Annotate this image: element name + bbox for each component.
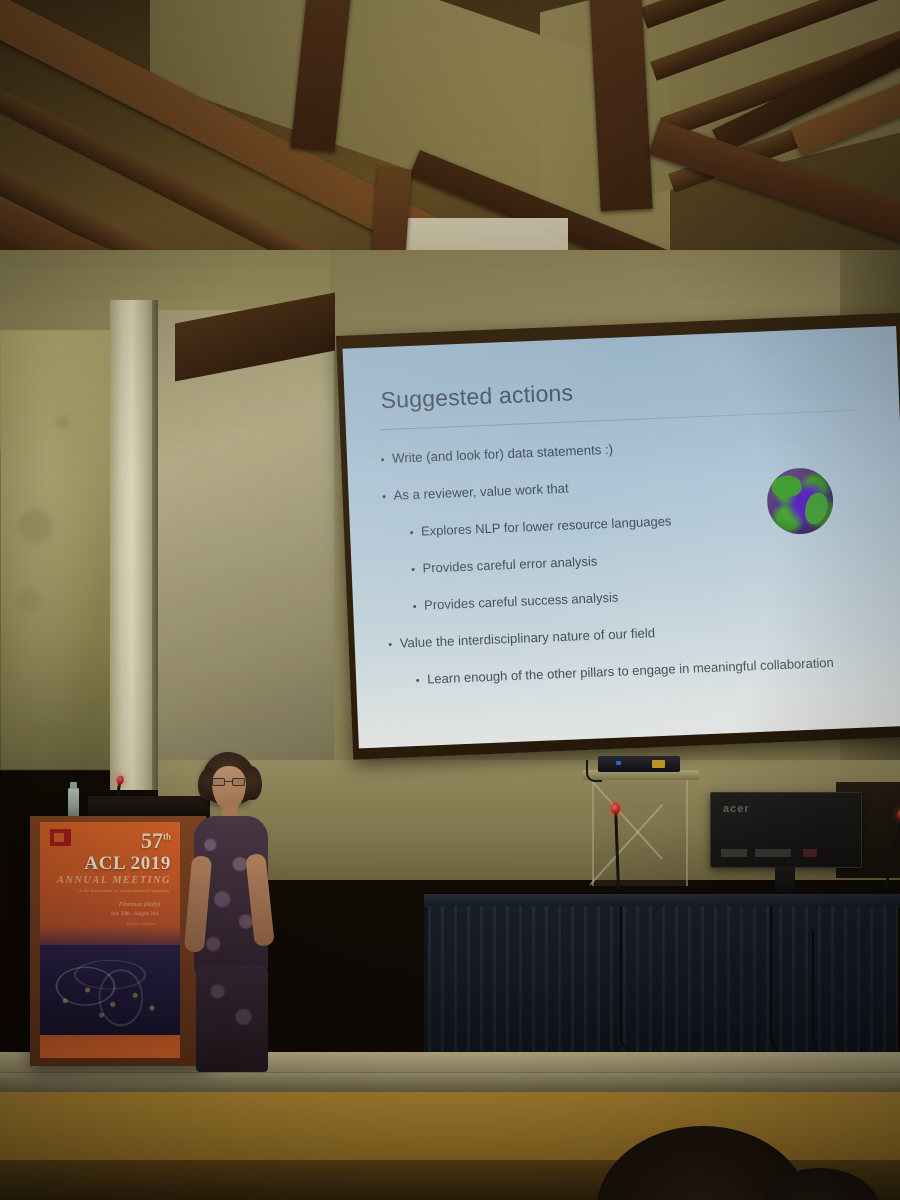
projector-cable — [586, 760, 602, 782]
banner-ordinal-number: 57 — [141, 828, 163, 853]
hanging-cable — [812, 930, 832, 1056]
bullet-item: Value the interdisciplinary nature of ou… — [388, 616, 888, 651]
podium: 57th ACL 2019 ANNUAL MEETING of the Asso… — [30, 816, 206, 1066]
conference-photo: Suggested actions Write (and look for) d… — [0, 0, 900, 1200]
banner-association-line: of the Association for Computational Lin… — [79, 888, 170, 893]
banner-dates: July 28th - August 2nd — [111, 911, 158, 917]
bullet-text: Provides careful error analysis — [422, 553, 597, 575]
eyeglasses-icon — [212, 778, 246, 786]
bullet-item: Provides careful error analysis — [385, 542, 885, 577]
bullet-text: Write (and look for) data statements :) — [392, 442, 614, 466]
slide-bullet-list: Write (and look for) data statements :) … — [381, 431, 891, 710]
projector-truss-stand — [592, 778, 688, 886]
bullet-item: Learn enough of the other pillars to eng… — [390, 653, 890, 688]
bottle-cap — [70, 782, 77, 789]
bullet-item: Explores NLP for lower resource language… — [384, 505, 884, 540]
glasses-bridge — [225, 781, 232, 782]
glasses-lens — [232, 778, 245, 786]
title-divider — [380, 410, 858, 431]
bullet-text: As a reviewer, value work that — [393, 481, 569, 503]
banner-subtitle: ANNUAL MEETING — [57, 875, 171, 886]
hanging-cable — [620, 906, 638, 1054]
monitor-sticker — [803, 849, 817, 857]
banner-ordinal-suffix: th — [163, 832, 171, 842]
acer-brand-label: acer — [723, 803, 750, 815]
faded-wall-fresco — [0, 330, 118, 770]
banner-conference-name: ACL 2019 — [84, 853, 171, 875]
wall-pilaster — [110, 300, 156, 790]
bullet-dot-icon — [383, 495, 386, 498]
slide-title: Suggested actions — [380, 379, 574, 414]
bullet-text: Explores NLP for lower resource language… — [421, 513, 672, 538]
projection-screen: Suggested actions Write (and look for) d… — [336, 313, 900, 780]
bullet-dot-icon — [389, 643, 392, 646]
wall-recess — [158, 310, 334, 780]
bullet-dot-icon — [381, 458, 384, 461]
banner-location: Florence (Italy) — [119, 901, 160, 908]
bullet-text: Value the interdisciplinary nature of ou… — [399, 625, 655, 650]
banner-swirl-graphic — [42, 942, 178, 1038]
glasses-lens — [212, 778, 225, 786]
banner-venue: Fortezza da Basso — [127, 921, 156, 926]
bullet-dot-icon — [412, 568, 415, 571]
bullet-text: Learn enough of the other pillars to eng… — [427, 655, 834, 687]
projector — [598, 756, 680, 772]
banner-ordinal: 57th — [141, 828, 171, 854]
acer-monitor-rear: acer — [710, 792, 862, 868]
bullet-item: Write (and look for) data statements :) — [381, 431, 881, 466]
projector-power-led-icon — [616, 761, 621, 765]
monitor-sticker — [755, 849, 791, 857]
monitor-sticker — [721, 849, 747, 857]
bullet-dot-icon — [410, 531, 413, 534]
projector-lens-icon — [652, 760, 665, 768]
speaker-presenter — [186, 752, 278, 1072]
bullet-dot-icon — [413, 605, 416, 608]
monitor-stand — [775, 866, 795, 896]
bullet-item: Provides careful success analysis — [387, 579, 887, 614]
hanging-cable — [770, 906, 796, 1056]
bullet-dot-icon — [416, 679, 419, 682]
presentation-slide: Suggested actions Write (and look for) d… — [343, 326, 900, 748]
acl-conference-banner: 57th ACL 2019 ANNUAL MEETING of the Asso… — [40, 822, 180, 1058]
bullet-item: As a reviewer, value work that — [382, 468, 882, 503]
acl-logo-icon — [50, 829, 71, 846]
bullet-text: Provides careful success analysis — [424, 590, 619, 613]
speaker-dress-lower — [196, 966, 268, 1072]
